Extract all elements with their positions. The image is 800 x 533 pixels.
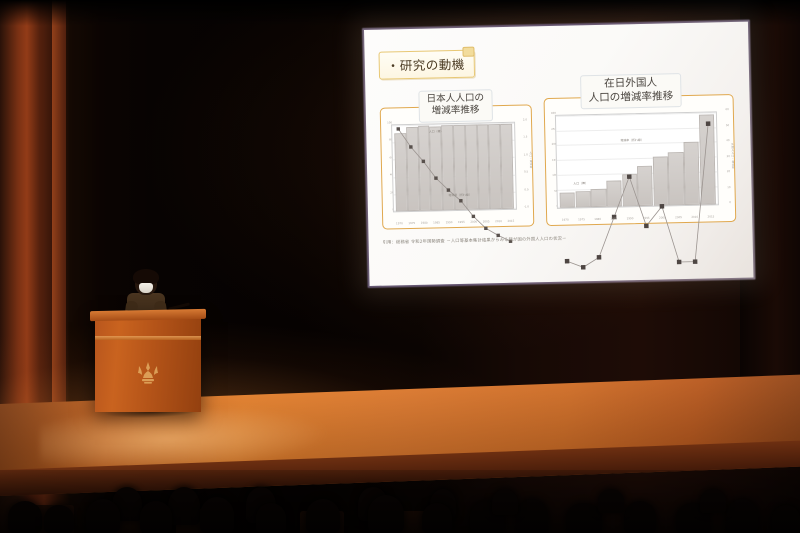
presentation-slide: ・研究の動機 日本人人口の 増減率推移 100806040200 2.01.51…: [364, 22, 753, 286]
crest-emblem-icon: [133, 360, 163, 386]
left-chart-plot-area: 人口（棒） 増減率（折れ線）: [391, 122, 517, 213]
right-chart-line-markers: [556, 112, 719, 275]
audience-shadow-overlay: [0, 470, 800, 533]
left-chart-line-markers: [392, 123, 517, 248]
chart-caption-right-line2: 人口の増減率推移: [588, 90, 673, 105]
podium-trim-band: [95, 336, 201, 340]
right-chart-annotation-population: 人口（棒）: [573, 181, 588, 185]
chart-caption-left: 日本人人口の 増減率推移: [418, 89, 492, 122]
projection-screen: ・研究の動機 日本人人口の 増減率推移 100806040200 2.01.51…: [364, 22, 753, 286]
chart-panel-foreign-population: 在日外国人 人口の増減率推移 300250200150100500 605040…: [544, 94, 737, 226]
face-mask-icon: [139, 283, 153, 293]
podium: [95, 316, 201, 412]
right-chart-y-label: 外国人人口・増減率: [730, 143, 735, 169]
slide-title-chip: ・研究の動機: [378, 50, 475, 80]
left-chart-y-label: 人口・増減率: [528, 151, 532, 168]
chart-caption-right: 在日外国人 人口の増減率推移: [580, 73, 681, 109]
podium-top-surface: [90, 309, 206, 321]
screen-surface: ・研究の動機 日本人人口の 増減率推移 100806040200 2.01.51…: [364, 22, 753, 286]
title-chip-corner-tab: [462, 47, 474, 57]
slide-title: ・研究の動機: [387, 54, 465, 75]
left-chart-annotation-population: 人口（棒）: [429, 129, 444, 133]
chart-panel-japanese-population: 日本人人口の 増減率推移 100806040200 2.01.51.00.50.…: [380, 104, 535, 229]
chart-caption-left-line2: 増減率推移: [427, 105, 485, 119]
auditorium-scene: ・研究の動機 日本人人口の 増減率推移 100806040200 2.01.51…: [0, 0, 800, 533]
right-chart-plot-area: 人口（棒） 増減率（折れ線）: [555, 111, 719, 209]
left-chart-annotation-rate: 増減率（折れ線）: [448, 192, 471, 197]
right-chart-annotation-rate: 増減率（折れ線）: [620, 138, 643, 143]
